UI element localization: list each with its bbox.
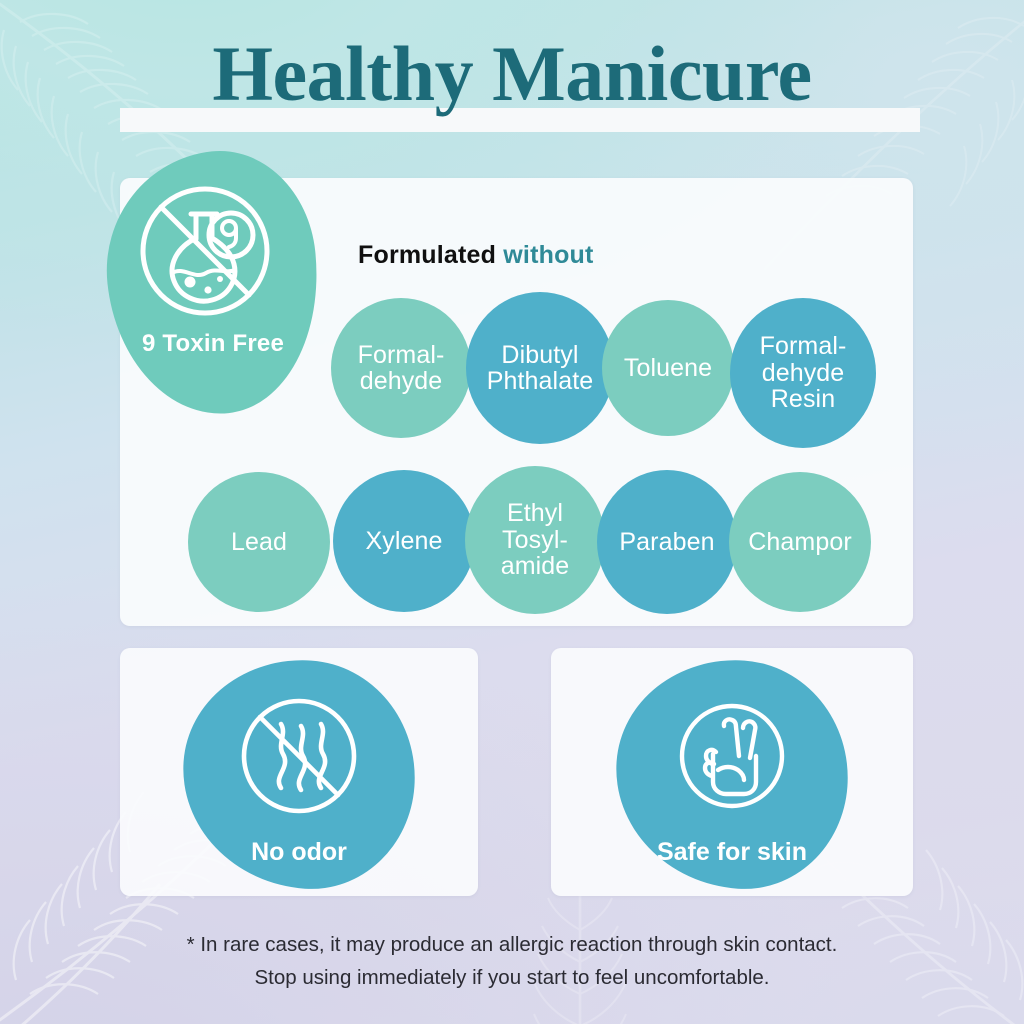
toxin-free-badge: 9 Toxin Free (108, 152, 318, 414)
peace-hand-icon (666, 690, 798, 822)
chemical-label: Xylene (361, 528, 446, 555)
without-word: without (503, 241, 593, 269)
chemical-circle-ethyl-tosylamide: EthylTosyl-amide (465, 466, 605, 614)
no-odor-icon (233, 690, 365, 822)
footnote-line-1: * In rare cases, it may produce an aller… (0, 928, 1024, 961)
formulated-without-heading: Formulated without (358, 241, 594, 270)
chemical-circle-formaldehyde-resin: Formal-dehydeResin (730, 298, 876, 448)
chemical-circle-lead: Lead (188, 472, 330, 612)
feature-card-no-odor: No odor (120, 648, 478, 896)
feature-label-no-odor: No odor (120, 838, 478, 867)
no-toxin-flask-icon (132, 178, 278, 324)
chemical-circle-champor: Champor (729, 472, 871, 612)
chemical-label: DibutylPhthalate (483, 342, 598, 395)
chemical-label: Champor (744, 529, 856, 556)
feature-label-safe-for-skin: Safe for skin (551, 838, 913, 867)
chemical-circle-formaldehyde: Formal-dehyde (331, 298, 471, 438)
chemical-label: Formal-dehydeResin (756, 333, 851, 413)
chemical-label: Toluene (620, 355, 716, 382)
chemical-circle-paraben: Paraben (597, 470, 737, 614)
page-title: Healthy Manicure (0, 34, 1024, 114)
chemical-circle-dibutyl-phthalate: DibutylPhthalate (466, 292, 614, 444)
chemical-circle-xylene: Xylene (333, 470, 475, 612)
formulated-word: Formulated (358, 241, 496, 269)
footnote: * In rare cases, it may produce an aller… (0, 928, 1024, 994)
chemical-label: Lead (227, 529, 291, 556)
feature-card-safe-for-skin: Safe for skin (551, 648, 913, 896)
badge-label: 9 Toxin Free (108, 330, 318, 358)
chemical-circle-toluene: Toluene (602, 300, 734, 436)
chemical-label: EthylTosyl-amide (497, 500, 574, 580)
chemical-label: Paraben (615, 529, 718, 556)
chemical-label: Formal-dehyde (354, 342, 449, 395)
footnote-line-2: Stop using immediately if you start to f… (0, 961, 1024, 994)
